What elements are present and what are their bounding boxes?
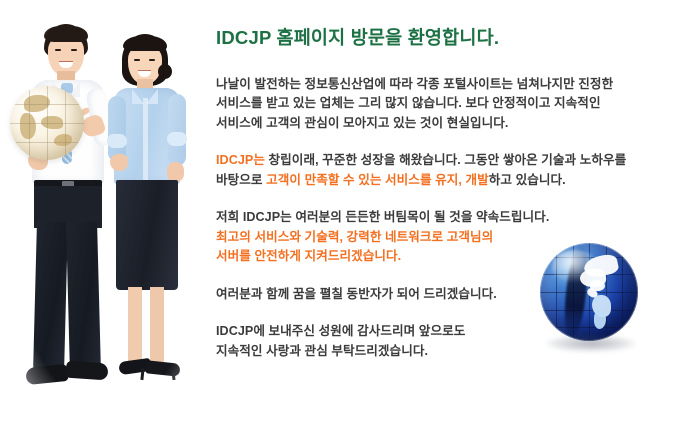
antique-globe-meridian	[29, 86, 30, 160]
blue-globe-sphere	[540, 243, 638, 341]
text-run: 지속적인 사랑과 관심 부탁드리겠습니다.	[216, 344, 428, 358]
intro-paragraph: 나날이 발전하는 정보통신산업에 따라 각종 포털사이트는 넘쳐나지만 진정한서…	[216, 75, 672, 134]
text-line: IDCJP는 창립이래, 꾸준한 성장을 해왔습니다. 그동안 쌓아온 기술과 …	[216, 151, 672, 171]
female-eye-left	[134, 59, 140, 61]
female-hand-left	[110, 154, 128, 171]
accent-text-run: 최고의 서비스와 기술력, 강력한 네트워크로 고객님의	[216, 230, 493, 244]
female-shirt-placket	[143, 98, 148, 182]
text-run: 바탕으로	[216, 173, 266, 187]
male-hair-fringe	[44, 26, 88, 42]
welcome-page: IDCJP 홈페이지 방문을 환영합니다. 나날이 발전하는 정보통신산업에 따…	[0, 0, 680, 431]
two-business-people-photo	[8, 10, 208, 410]
female-cuff-left	[107, 134, 127, 148]
text-run: 창립이래, 꾸준한 성장을 해왔습니다. 그동안 쌓아온 기술과 노하우를	[265, 153, 626, 167]
text-line: 서비스를 받고 있는 업체는 그리 많지 않습니다. 보다 안정적이고 지속적인	[216, 94, 672, 114]
accent-text-run: 고객이 만족할 수 있는 서비스를 유지, 개발	[266, 173, 489, 187]
text-run: IDCJP에 보내주신 성원에 감사드리며 앞으로도	[216, 324, 465, 338]
text-run: 여러분과 함께 꿈을 펼칠 동반자가 되어 드리겠습니다.	[216, 287, 497, 301]
female-hair-fringe	[123, 36, 167, 51]
female-model-figure	[96, 34, 196, 410]
male-trouser-leg-left	[33, 222, 68, 373]
female-leg-left	[128, 287, 142, 365]
text-run: 서비스를 받고 있는 업체는 그리 많지 않습니다. 보다 안정적이고 지속적인	[216, 96, 601, 110]
male-eye-right	[71, 49, 77, 51]
text-line: 나날이 발전하는 정보통신산업에 따라 각종 포털사이트는 넘쳐나지만 진정한	[216, 75, 672, 95]
text-run: 저희 IDCJP는 여러분의 든든한 버팀목이 될 것을 약속드립니다.	[216, 210, 549, 224]
blue-globe-drop-shadow	[546, 335, 636, 352]
antique-globe-landmass	[20, 113, 36, 139]
text-run: 나날이 발전하는 정보통신산업에 따라 각종 포털사이트는 넘쳐나지만 진정한	[216, 77, 613, 91]
female-leg-right	[150, 287, 164, 365]
text-line: 서비스에 고객의 관심이 모아지고 있는 것이 현실입니다.	[216, 114, 672, 134]
antique-globe-landmass	[54, 134, 72, 146]
female-hair-bun	[158, 64, 172, 79]
male-eye-left	[55, 49, 61, 51]
antique-globe-image	[10, 86, 84, 160]
accent-text-run: 서버를 안전하게 지켜드리겠습니다.	[216, 249, 401, 263]
female-navy-skirt	[116, 180, 178, 290]
female-eye-right	[149, 59, 155, 61]
text-run: 하고 있습니다.	[489, 173, 566, 187]
female-arm-right	[168, 94, 186, 166]
text-line: 저희 IDCJP는 여러분의 든든한 버팀목이 될 것을 약속드립니다.	[216, 208, 672, 228]
text-line: 바탕으로 고객이 만족할 수 있는 서비스를 유지, 개발하고 있습니다.	[216, 171, 672, 191]
text-run: 서비스에 고객의 관심이 모아지고 있는 것이 현실입니다.	[216, 116, 508, 130]
female-high-heel-right	[145, 360, 180, 376]
female-heel-spike-left	[140, 368, 144, 380]
growth-paragraph: IDCJP는 창립이래, 꾸준한 성장을 해왔습니다. 그동안 쌓아온 기술과 …	[216, 151, 672, 190]
female-arm-left	[108, 96, 126, 162]
blue-globe-image	[540, 243, 642, 355]
female-hand-right	[167, 162, 184, 182]
accent-text-run: IDCJP는	[216, 153, 265, 167]
female-cuff-right	[167, 132, 187, 146]
male-shoe-left	[25, 364, 69, 385]
antique-globe-meridian	[47, 86, 48, 160]
page-title: IDCJP 홈페이지 방문을 환영합니다.	[216, 26, 672, 51]
blue-globe-rim	[540, 243, 638, 341]
antique-globe-meridian	[65, 86, 66, 160]
